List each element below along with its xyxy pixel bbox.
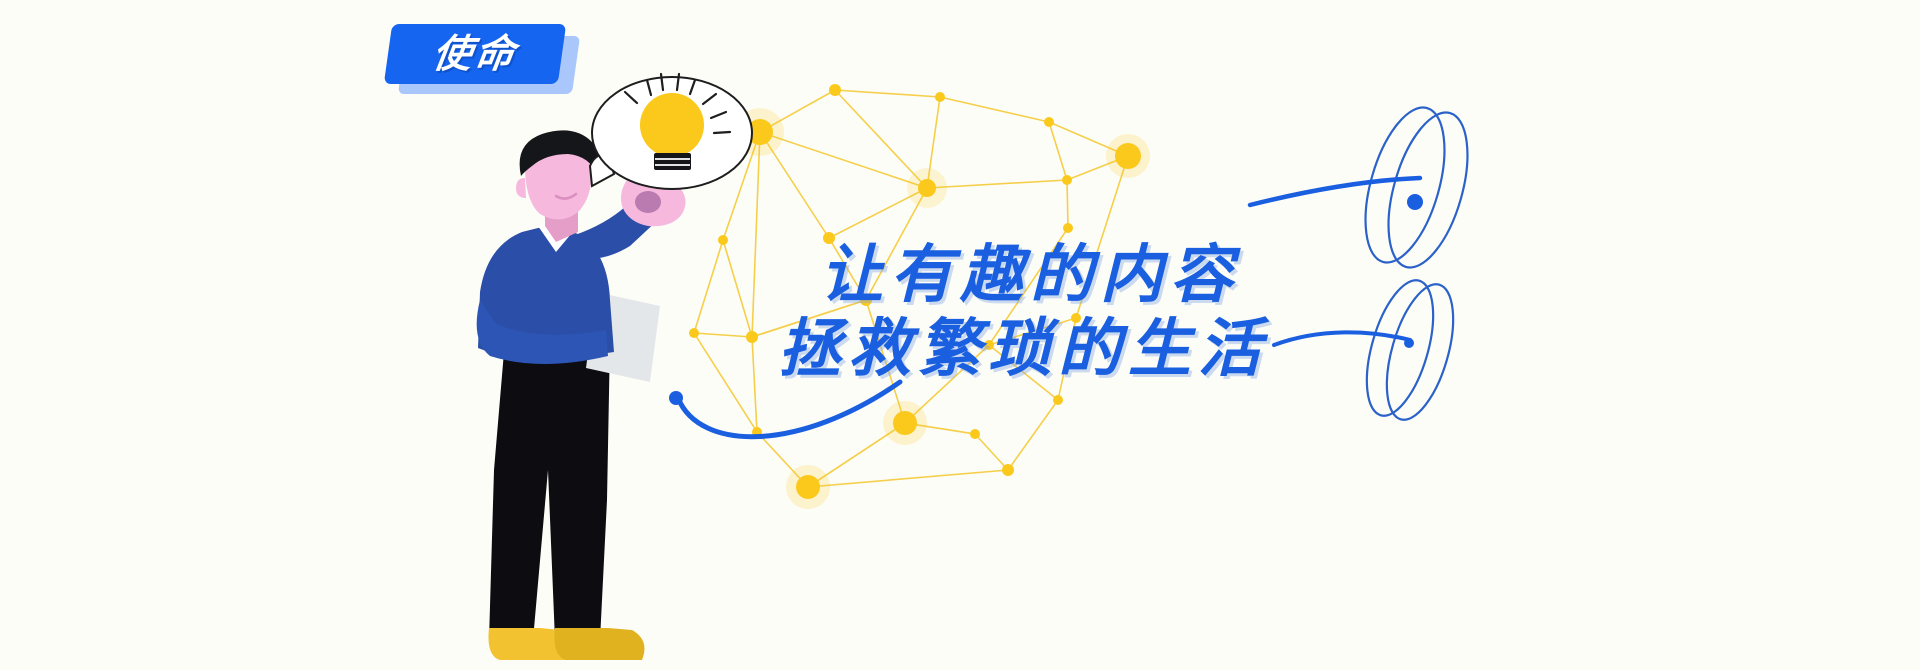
hero-banner: 使命 让有趣的内容 拯救繁琐的生活 [0,0,1920,670]
lightbulb-glass [640,93,704,157]
idea-speech-bubble [0,0,1920,670]
lightbulb-base [654,153,691,170]
